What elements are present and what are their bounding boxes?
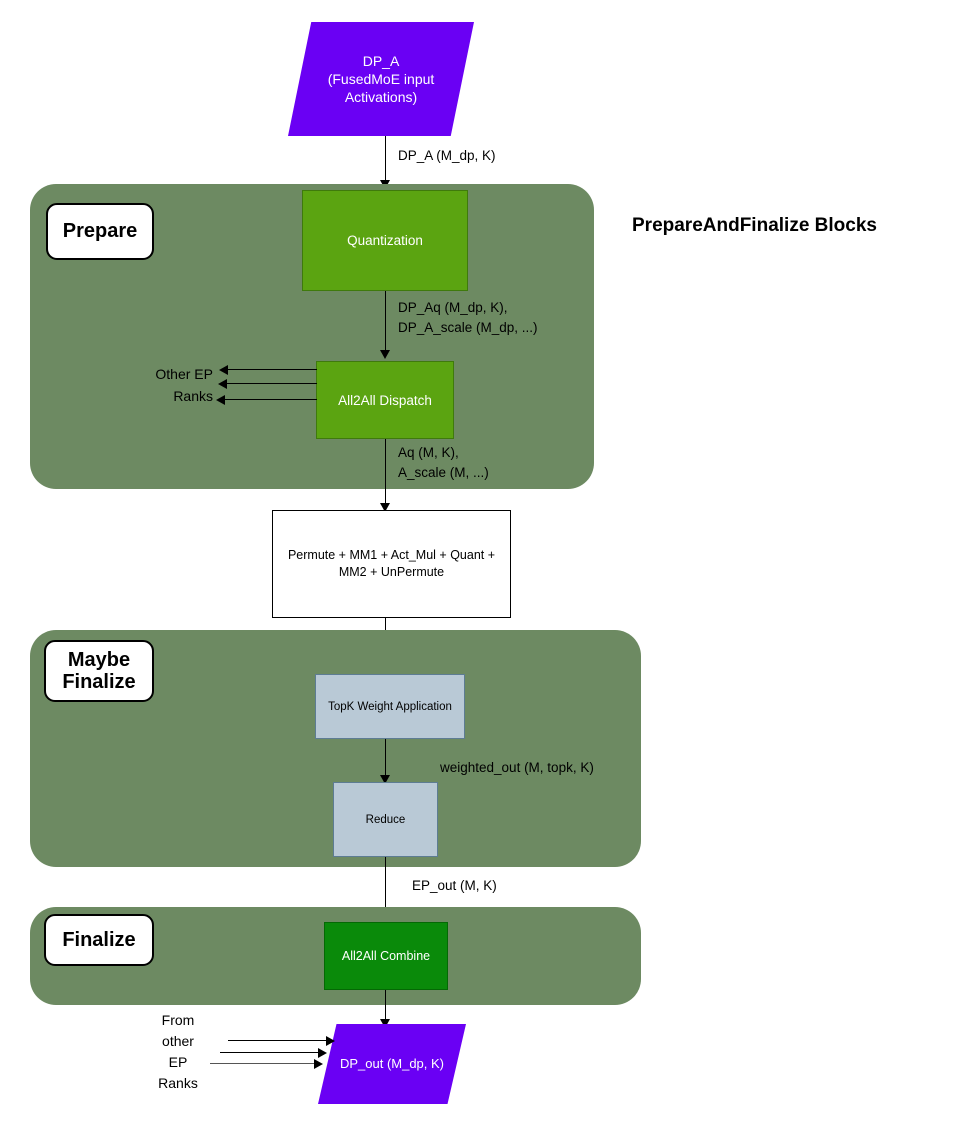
node-expert-compute: Permute + MM1 + Act_Mul + Quant + MM2 + … <box>272 510 511 618</box>
edge-dp-out-in-3-line <box>210 1063 316 1064</box>
edge-dispatch-out-1-line <box>227 369 317 370</box>
node-dp-a-input: DP_A (FusedMoE input Activations) <box>288 22 474 136</box>
edge-dispatch-out-3-arrow <box>216 395 225 405</box>
node-all2all-dispatch-label: All2All Dispatch <box>338 393 432 408</box>
node-all2all-combine: All2All Combine <box>324 922 448 990</box>
edge-dispatch-out-1-arrow <box>219 365 228 375</box>
node-dp-out: DP_out (M_dp, K) <box>318 1024 466 1104</box>
edge-label-dp-aq: DP_Aq (M_dp, K), DP_A_scale (M_dp, ...) <box>398 298 538 337</box>
node-dp-out-label: DP_out (M_dp, K) <box>340 1056 444 1073</box>
group-badge-finalize-label: Finalize <box>62 929 135 951</box>
node-dp-a-input-label: DP_A (FusedMoE input Activations) <box>328 52 435 107</box>
node-reduce-label: Reduce <box>366 814 406 826</box>
edge-label-dp-a: DP_A (M_dp, K) <box>398 146 496 166</box>
edge-dp-out-in-2-arrow <box>318 1048 327 1058</box>
edge-dp-out-in-1-arrow <box>326 1036 335 1046</box>
node-all2all-dispatch: All2All Dispatch <box>316 361 454 439</box>
edge-dp-out-in-3-arrow <box>314 1059 323 1069</box>
group-badge-maybe-finalize-label: Maybe Finalize <box>62 649 135 694</box>
label-other-ep-ranks: Other EP Ranks <box>128 364 213 407</box>
diagram-canvas: DP_A (FusedMoE input Activations) DP_A (… <box>0 0 971 1121</box>
edge-dp-aq-line <box>385 291 386 353</box>
group-badge-prepare: Prepare <box>46 203 154 260</box>
edge-dispatch-out-2-line <box>226 383 317 384</box>
node-quantization-label: Quantization <box>347 233 423 248</box>
edge-dispatch-out-2-arrow <box>218 379 227 389</box>
node-expert-compute-label: Permute + MM1 + Act_Mul + Quant + MM2 + … <box>288 547 495 581</box>
node-quantization: Quantization <box>302 190 468 291</box>
edge-dp-a-line <box>385 136 386 183</box>
node-all2all-combine-label: All2All Combine <box>342 949 430 963</box>
node-reduce: Reduce <box>333 782 438 857</box>
group-badge-finalize: Finalize <box>44 914 154 966</box>
edge-dp-out-in-2-line <box>220 1052 320 1053</box>
node-topk-weight-application-label: TopK Weight Application <box>328 701 452 713</box>
page-title: PrepareAndFinalize Blocks <box>632 215 877 237</box>
edge-label-aq: Aq (M, K), A_scale (M, ...) <box>398 443 489 482</box>
label-from-other-ep-ranks: From other EP Ranks <box>148 1010 208 1094</box>
edge-label-ep-out: EP_out (M, K) <box>412 876 497 896</box>
edge-dp-aq-arrow <box>380 350 390 359</box>
edge-dispatch-out-3-line <box>224 399 317 400</box>
edge-dp-out-in-1-line <box>228 1040 328 1041</box>
group-badge-maybe-finalize: Maybe Finalize <box>44 640 154 702</box>
node-topk-weight-application: TopK Weight Application <box>315 674 465 739</box>
edge-label-weighted-out: weighted_out (M, topk, K) <box>440 758 594 778</box>
edge-aq-line <box>385 439 386 509</box>
group-badge-prepare-label: Prepare <box>63 220 138 242</box>
